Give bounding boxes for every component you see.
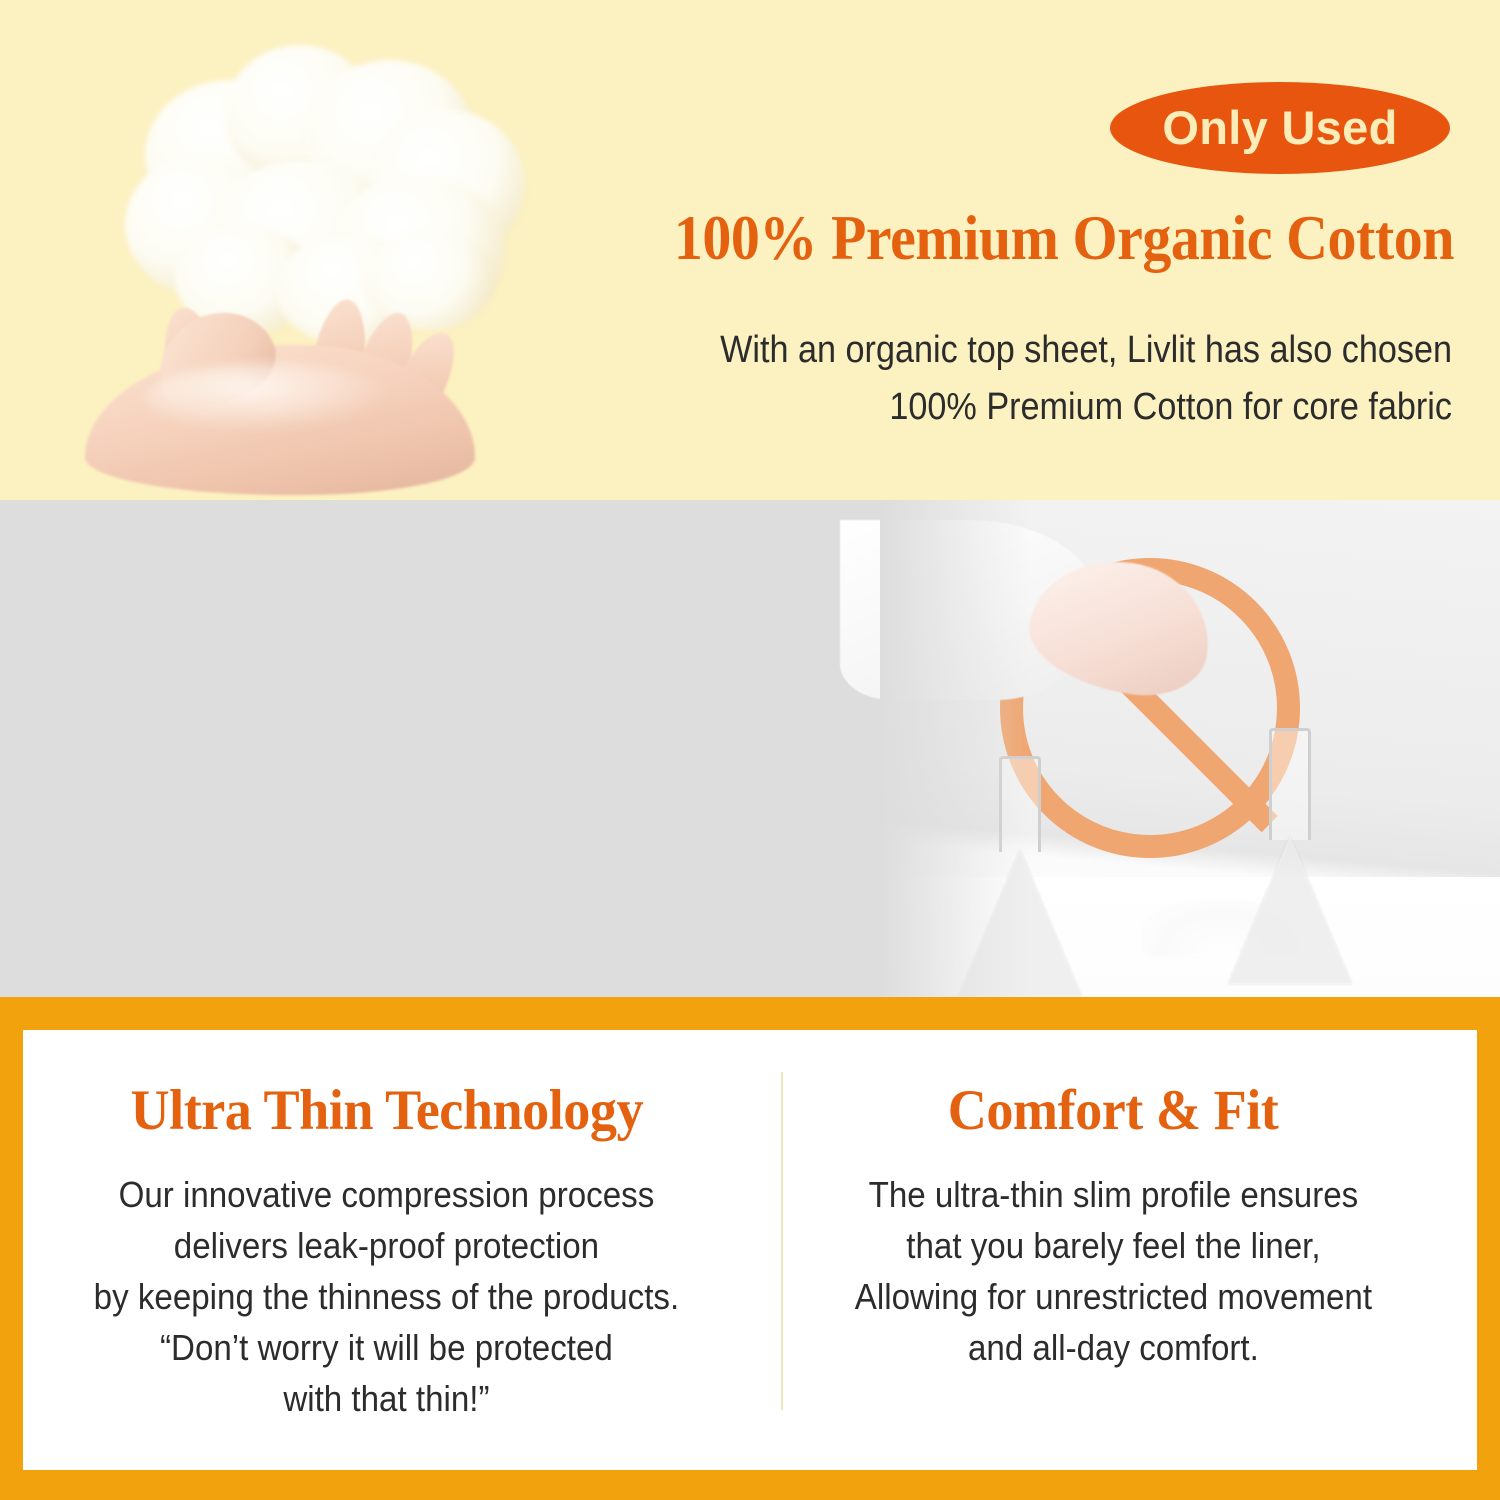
feature-1-line-4: “Don’t worry it will be protected	[79, 1322, 694, 1373]
feature-2-body: The ultra-thin slim profile ensures that…	[806, 1169, 1421, 1373]
section-organic-cotton: Only Used 100% Premium Organic Cotton Wi…	[0, 0, 1500, 500]
feature-ultra-thin-technology: Ultra Thin Technology Our innovative com…	[23, 1030, 750, 1470]
cotton-body-text: With an organic top sheet, Livlit has al…	[642, 322, 1452, 436]
features-panel: Ultra Thin Technology Our innovative com…	[23, 1030, 1477, 1470]
cotton-heading: 100% Premium Organic Cotton	[608, 206, 1454, 272]
cotton-body-line-2: 100% Premium Cotton for core fabric	[642, 379, 1452, 436]
feature-2-line-2: that you barely feel the liner,	[806, 1220, 1421, 1271]
feature-1-line-3: by keeping the thinness of the products.	[79, 1271, 694, 1322]
feature-comfort-and-fit: Comfort & Fit The ultra-thin slim profil…	[750, 1030, 1477, 1470]
feature-1-line-2: delivers leak-proof protection	[79, 1220, 694, 1271]
feature-1-title: Ultra Thin Technology	[130, 1082, 643, 1139]
open-palm-icon	[55, 285, 525, 500]
cotton-text-block: Only Used 100% Premium Organic Cotton Wi…	[520, 0, 1460, 500]
section-no-sap: Did Not Use Chemical called “SAP” Commit…	[0, 500, 1500, 997]
lab-flasks-image	[880, 500, 1500, 997]
feature-1-body: Our innovative compression process deliv…	[79, 1169, 694, 1425]
photo-left-fade	[880, 500, 1030, 997]
feature-1-line-1: Our innovative compression process	[79, 1169, 694, 1220]
feature-2-title: Comfort & Fit	[948, 1082, 1279, 1139]
cotton-body-line-1: With an organic top sheet, Livlit has al…	[642, 322, 1452, 379]
feature-1-line-5: with that thin!”	[79, 1373, 694, 1424]
hand-holding-cotton-cloud-image	[55, 30, 575, 500]
feature-2-line-4: and all-day comfort.	[806, 1322, 1421, 1373]
feature-2-line-1: The ultra-thin slim profile ensures	[806, 1169, 1421, 1220]
section-features: Ultra Thin Technology Our innovative com…	[0, 997, 1500, 1500]
feature-2-line-3: Allowing for unrestricted movement	[806, 1271, 1421, 1322]
badge-only-used: Only Used	[1110, 82, 1450, 174]
infographic-page: Only Used 100% Premium Organic Cotton Wi…	[0, 0, 1500, 1500]
